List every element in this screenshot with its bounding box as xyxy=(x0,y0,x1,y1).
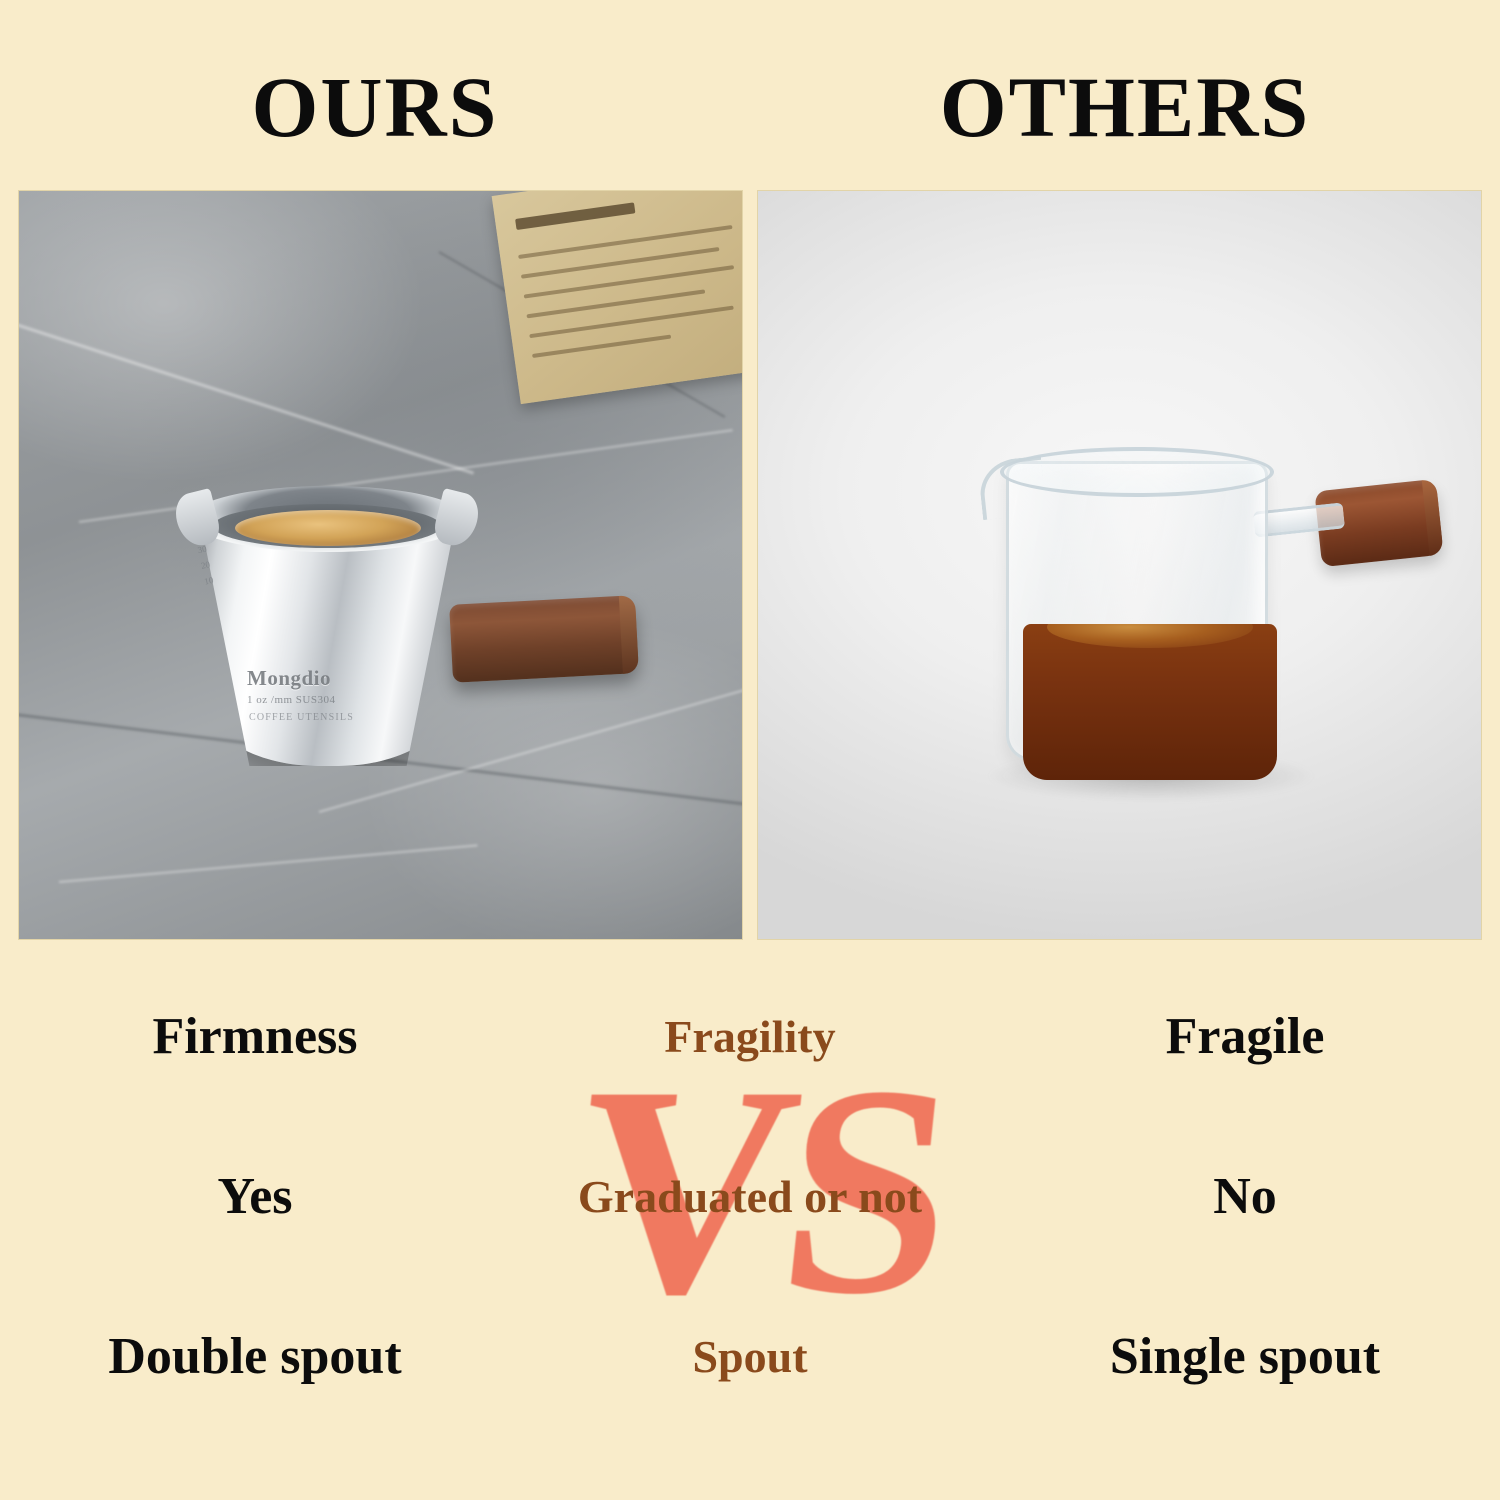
espresso-crema xyxy=(235,510,421,546)
row-2-ours-value: Yes xyxy=(0,1167,510,1226)
comparison-infographic: OURS OTHERS xyxy=(0,0,1500,1500)
row-2-others-value: No xyxy=(990,1167,1500,1226)
heading-cell-others: OTHERS xyxy=(750,52,1500,162)
heading-cell-ours: OURS xyxy=(0,52,750,162)
paper-note xyxy=(492,190,743,404)
product-photo-ours: 30 20 10 Mongdio 1 oz /mm SUS304 COFFEE … xyxy=(18,190,743,940)
brand-category-line: COFFEE UTENSILS xyxy=(249,712,354,723)
comparison-row-3: Double spout Spout Single spout xyxy=(0,1327,1500,1386)
heading-others: OTHERS xyxy=(940,64,1310,150)
headings-row: OURS OTHERS xyxy=(0,52,1500,162)
row-2-feature-label: Graduated or not xyxy=(510,1170,990,1223)
vs-badge: VS xyxy=(560,1025,960,1465)
product-photo-others xyxy=(757,190,1482,940)
heading-ours: OURS xyxy=(252,64,499,150)
row-3-feature-label: Spout xyxy=(510,1330,990,1383)
steel-espresso-cup: 30 20 10 Mongdio 1 oz /mm SUS304 COFFEE … xyxy=(169,486,489,771)
spout-right-icon xyxy=(431,488,483,550)
row-3-others-value: Single spout xyxy=(990,1327,1500,1386)
row-1-ours-value: Firmness xyxy=(0,1007,510,1066)
row-1-others-value: Fragile xyxy=(990,1007,1500,1066)
glass-espresso-cup xyxy=(996,441,1416,781)
row-1-feature-label: Fragility xyxy=(510,1010,990,1063)
brand-label: Mongdio xyxy=(247,666,331,691)
photo-panels: 30 20 10 Mongdio 1 oz /mm SUS304 COFFEE … xyxy=(18,190,1482,940)
comparison-row-1: Firmness Fragility Fragile xyxy=(0,1007,1500,1066)
brand-spec-line: 1 oz /mm SUS304 xyxy=(247,694,335,706)
coffee-liquid xyxy=(1023,624,1277,780)
wooden-handle-steel-cup xyxy=(449,595,639,683)
comparison-table: VS Firmness Fragility Fragile Yes Gradua… xyxy=(0,985,1500,1485)
comparison-row-2: Yes Graduated or not No xyxy=(0,1167,1500,1226)
row-3-ours-value: Double spout xyxy=(0,1327,510,1386)
